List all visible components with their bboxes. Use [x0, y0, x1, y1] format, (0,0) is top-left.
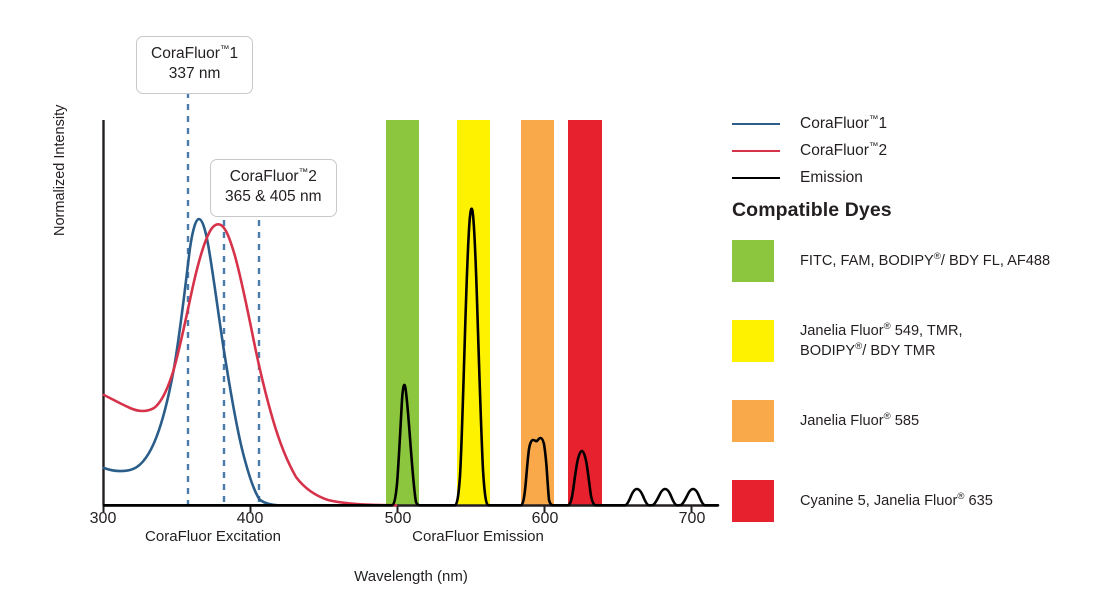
compatible-dyes-heading: Compatible Dyes	[732, 199, 892, 222]
dye-swatch-yellow	[732, 320, 774, 362]
reference-lines	[188, 92, 259, 505]
callout-corafluor-1: CoraFluor™1 337 nm	[136, 36, 253, 94]
dye-row-green: FITC, FAM, BODIPY®/ BDY FL, AF488	[732, 234, 1108, 288]
curve-corafluor-2	[104, 224, 396, 505]
band-red	[568, 120, 602, 505]
side-panel: CoraFluor™1 CoraFluor™2 Emission Compati…	[730, 0, 1110, 612]
dye-label-red: Cyanine 5, Janelia Fluor® 635	[800, 491, 993, 511]
region-label-excitation: CoraFluor Excitation	[145, 528, 281, 545]
legend-label-corafluor-1: CoraFluor™1	[800, 115, 887, 133]
dye-row-yellow: Janelia Fluor® 549, TMR, BODIPY®/ BDY TM…	[732, 314, 1108, 368]
tick-label-600: 600	[532, 510, 559, 528]
legend-item-corafluor-1: CoraFluor™1	[730, 110, 1090, 137]
dye-swatch-red	[732, 480, 774, 522]
callout-1-value: 337 nm	[151, 64, 238, 84]
tick-label-400: 400	[237, 510, 264, 528]
legend-line-corafluor-1	[732, 123, 780, 125]
dye-label-yellow: Janelia Fluor® 549, TMR, BODIPY®/ BDY TM…	[800, 321, 963, 361]
dye-swatch-orange	[732, 400, 774, 442]
tick-label-300: 300	[90, 510, 117, 528]
dye-label-green: FITC, FAM, BODIPY®/ BDY FL, AF488	[800, 251, 1050, 271]
tick-label-700: 700	[679, 510, 706, 528]
emission-bands	[386, 120, 602, 505]
legend-line-corafluor-2	[732, 150, 780, 152]
compatible-dyes-list: FITC, FAM, BODIPY®/ BDY FL, AF488 Janeli…	[732, 234, 1108, 554]
legend-label-emission: Emission	[800, 169, 863, 187]
dye-row-red: Cyanine 5, Janelia Fluor® 635	[732, 474, 1108, 528]
figure-root: CoraFluor™1 337 nm CoraFluor™2 365 & 405…	[0, 0, 1110, 612]
legend-line-emission	[732, 177, 780, 179]
curve-corafluor-1	[104, 219, 278, 505]
legend-item-emission: Emission	[730, 164, 1090, 191]
plot-area: CoraFluor™1 337 nm CoraFluor™2 365 & 405…	[0, 0, 730, 612]
x-axis-title: Wavelength (nm)	[354, 568, 468, 585]
tick-label-500: 500	[385, 510, 412, 528]
y-axis-title: Normalized Intensity	[52, 105, 68, 236]
series-legend: CoraFluor™1 CoraFluor™2 Emission	[730, 110, 1090, 191]
band-orange	[521, 120, 554, 505]
callout-corafluor-2: CoraFluor™2 365 & 405 nm	[210, 159, 337, 217]
region-label-emission: CoraFluor Emission	[412, 528, 544, 545]
dye-swatch-green	[732, 240, 774, 282]
legend-item-corafluor-2: CoraFluor™2	[730, 137, 1090, 164]
dye-row-orange: Janelia Fluor® 585	[732, 394, 1108, 448]
legend-label-corafluor-2: CoraFluor™2	[800, 142, 887, 160]
callout-2-value: 365 & 405 nm	[225, 187, 322, 207]
band-green	[386, 120, 419, 505]
dye-label-orange: Janelia Fluor® 585	[800, 411, 919, 431]
callout-2-title: CoraFluor™2	[225, 167, 322, 187]
callout-1-title: CoraFluor™1	[151, 44, 238, 64]
